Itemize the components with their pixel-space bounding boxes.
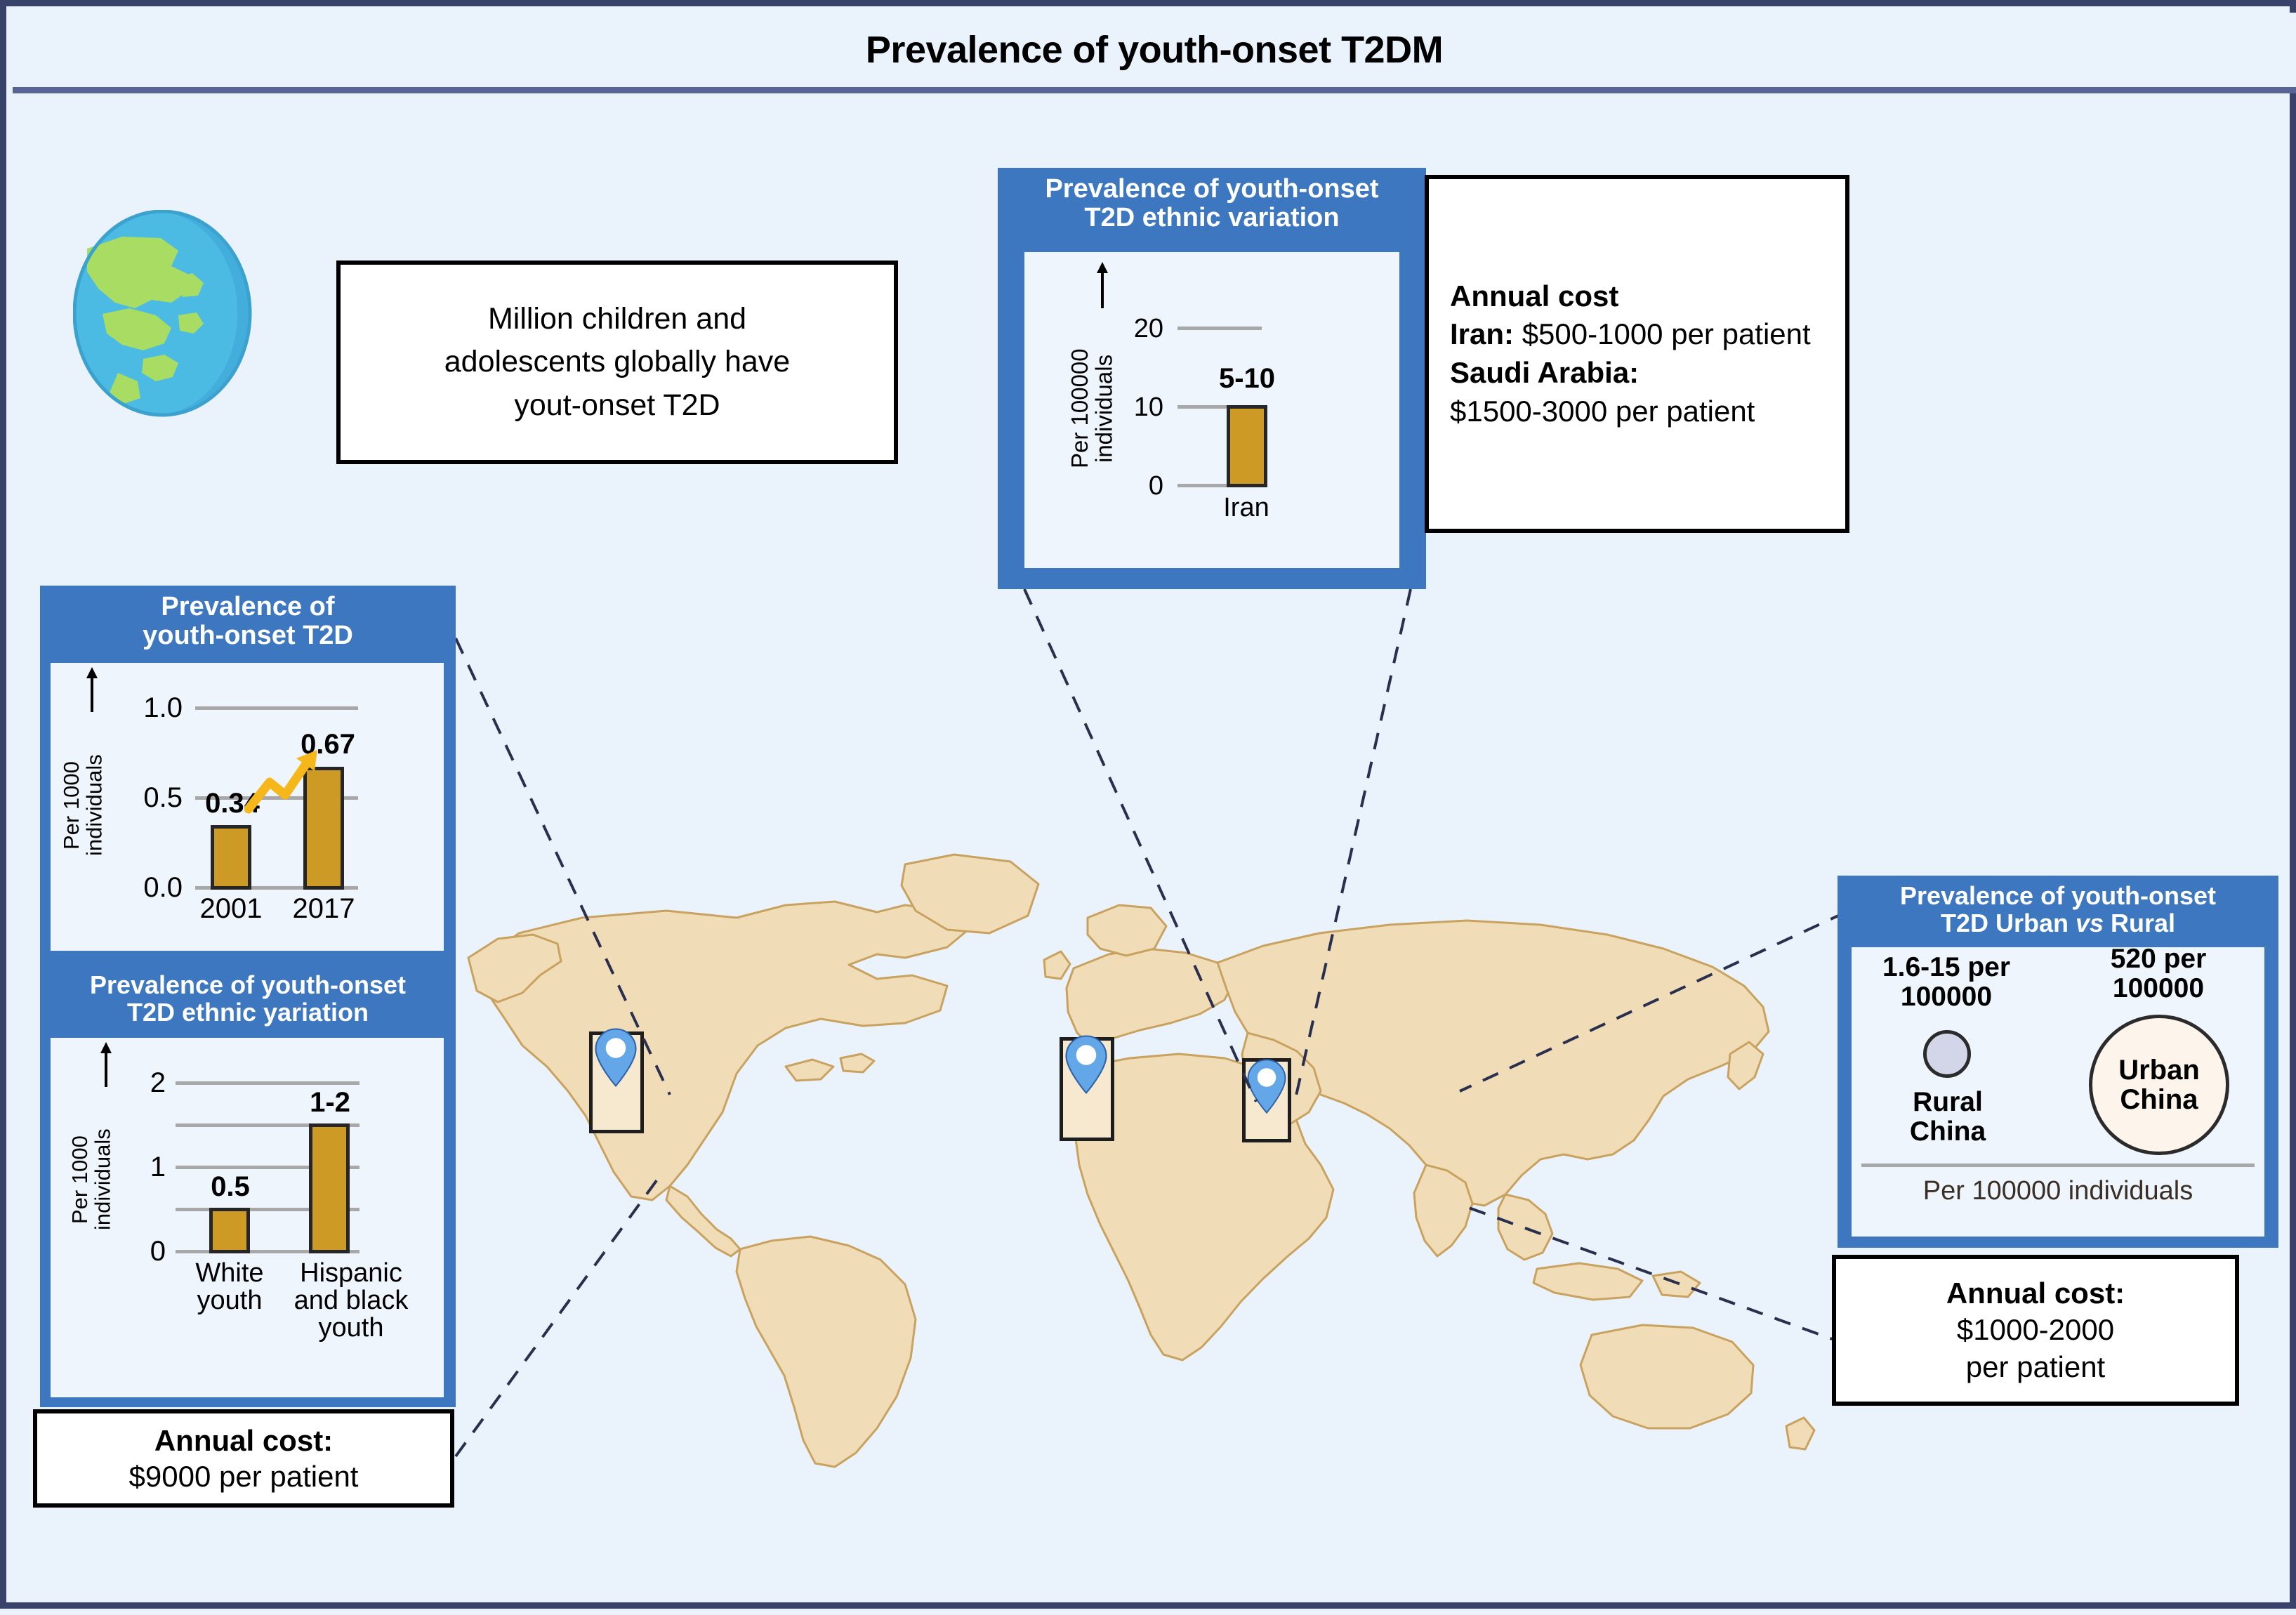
globe-callout-line-3: yout-onset T2D (514, 384, 720, 427)
cost-saudi-label: Saudi Arabia: (1450, 354, 1824, 393)
rural-china-name: Rural China (1874, 1088, 2021, 1147)
chart-iran-ethnic: Per 100000 individuals 20 10 0 5-10 Iran (1024, 252, 1399, 568)
panel-iran-ethnic: Prevalence of youth-onset T2D ethnic var… (998, 168, 1426, 589)
panel-iran-title-line-1: Prevalence of youth-onset (1006, 175, 1418, 204)
callout-cost-china: Annual cost: $1000-2000 per patient (1832, 1255, 2239, 1406)
globe-icon (73, 210, 252, 417)
cost-us-heading: Annual cost: (154, 1423, 333, 1458)
header-bar: Prevalence of youth-onset T2DM (13, 13, 2296, 93)
y-tick-0-0: 0.0 (107, 872, 183, 904)
map-pin-china[interactable] (1242, 1058, 1291, 1142)
y-axis-label-iran: Per 100000 individuals (1068, 314, 1113, 503)
chart-china-urban-rural: 1.6-15 per 100000 Rural China 520 per 10… (1852, 947, 2264, 1237)
gridline-20 (1177, 327, 1262, 330)
world-map (456, 835, 1853, 1488)
panel-us-trend: Prevalence of youth-onset T2D Per 1000 i… (40, 586, 456, 965)
panel-china-title-line-1: Prevalence of youth-onset (1846, 883, 2270, 910)
cost-iran-heading: Annual cost (1450, 277, 1824, 316)
panel-us-trend-title: Prevalence of youth-onset T2D (40, 586, 456, 664)
infographic-poster: Prevalence of youth-onset T2DM (0, 0, 2296, 1609)
urban-china-bubble: Urban China (2089, 1015, 2229, 1155)
y-tick-0: 0 (126, 1236, 166, 1267)
panel-us-trend-title-line-1: Prevalence of (48, 593, 447, 621)
panel-us-trend-title-line-2: youth-onset T2D (48, 621, 447, 650)
bar-hispanic-black-youth (309, 1123, 350, 1253)
gridline-2 (176, 1081, 359, 1085)
callout-cost-us: Annual cost: $9000 per patient (33, 1409, 454, 1508)
map-pin-usa[interactable] (589, 1031, 644, 1133)
panel-us-ethnic: Prevalence of youth-onset T2D ethnic yar… (40, 965, 456, 1407)
panel-china-title-vs: vs (2076, 909, 2104, 937)
globe-callout-line-1: Million children and (488, 298, 746, 341)
x-category-hispanic-black-youth: Hispanicand blackyouth (284, 1260, 418, 1342)
panel-china-urban-rural: Prevalence of youth-onset T2D Urban vs R… (1838, 876, 2278, 1248)
bar-2001 (211, 825, 251, 890)
y-axis-arrow-icon (83, 667, 101, 713)
y-tick-0-5: 0.5 (107, 782, 183, 814)
panel-us-ethnic-title: Prevalence of youth-onset T2D ethnic yar… (40, 965, 456, 1039)
bar-white-youth (209, 1208, 250, 1253)
chart-us-trend: Per 1000 individuals 1.0 0.5 0.0 0.34 0.… (51, 663, 444, 951)
china-panel-footer: Per 100000 individuals (1861, 1176, 2255, 1206)
x-category-white-youth: Whiteyouth (174, 1260, 285, 1314)
cost-china-heading: Annual cost: (1946, 1275, 2125, 1312)
upward-trend-arrow-icon (244, 744, 337, 815)
bar-iran (1227, 405, 1267, 487)
panel-china-title-line-2: T2D Urban vs Rural (1846, 910, 2270, 937)
y-tick-2: 2 (126, 1067, 166, 1099)
page-title: Prevalence of youth-onset T2DM (866, 28, 1443, 72)
panel-iran-title-line-2: T2D ethnic variation (1006, 204, 1418, 232)
panel-us-ethnic-title-line-1: Prevalence of youth-onset (48, 972, 447, 999)
cost-us-value: $9000 per patient (129, 1458, 359, 1494)
y-axis-arrow-icon (97, 1042, 115, 1088)
x-category-2001: 2001 (183, 895, 279, 923)
cost-iran-label: Iran: (1450, 317, 1514, 350)
y-axis-arrow-icon (1093, 262, 1111, 310)
cost-saudi-value: $1500-3000 per patient (1450, 393, 1824, 431)
y-tick-1: 1 (126, 1152, 166, 1183)
cost-iran-value: $500-1000 per patient (1522, 317, 1811, 350)
panel-china-title: Prevalence of youth-onset T2D Urban vs R… (1838, 876, 2278, 949)
y-axis-label-us-ethnic: Per 1000 individuals (69, 1090, 112, 1270)
china-panel-divider (1861, 1164, 2255, 1167)
y-tick-1-0: 1.0 (107, 692, 183, 724)
x-category-iran: Iran (1197, 494, 1295, 522)
rural-value-label: 1.6-15 per 100000 (1859, 953, 2034, 1012)
y-tick-10: 10 (1116, 393, 1163, 423)
bar-value-hispanic-black-youth: 1-2 (284, 1087, 376, 1119)
y-tick-0: 0 (1116, 471, 1163, 501)
x-category-2017: 2017 (275, 895, 372, 923)
panel-iran-ethnic-title: Prevalence of youth-onset T2D ethnic var… (998, 168, 1426, 246)
y-axis-label-us-trend: Per 1000 individuals (60, 718, 104, 893)
cost-china-line-2: per patient (1966, 1349, 2105, 1385)
panel-china-title-rural: Rural (2104, 909, 2175, 937)
urban-value-label: 520 per 100000 (2061, 944, 2256, 1003)
y-tick-20: 20 (1116, 314, 1163, 344)
gridline-1-0 (195, 706, 358, 710)
bar-value-white-youth: 0.5 (184, 1171, 277, 1203)
rural-china-bubble (1923, 1030, 1971, 1078)
cost-china-line-1: $1000-2000 (1957, 1312, 2114, 1348)
map-pin-iran[interactable] (1060, 1037, 1114, 1141)
globe-callout-line-2: adolescents globally have (444, 341, 790, 383)
callout-cost-iran-saudi: Annual cost Iran: $500-1000 per patient … (1425, 175, 1849, 533)
chart-us-ethnic: Per 1000 individuals 2 1 0 0.5 1-2 White… (51, 1038, 444, 1397)
panel-china-title-urban: T2D Urban (1941, 909, 2076, 937)
bar-value-iran: 5-10 (1190, 363, 1304, 395)
panel-us-ethnic-title-line-2: T2D ethnic yariation (48, 999, 447, 1027)
globe-callout-box: Million children and adolescents globall… (336, 261, 898, 464)
